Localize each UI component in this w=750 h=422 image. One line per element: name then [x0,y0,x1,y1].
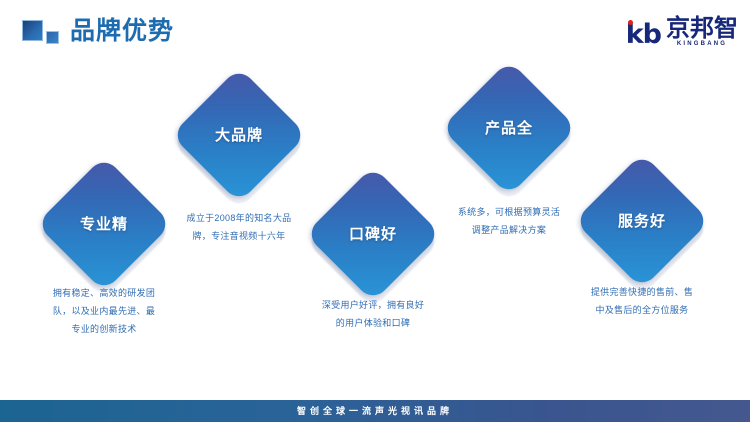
logo-english-text: KINGBANG [677,40,727,48]
logo-wordmark: 京邦智 KINGBANG [666,16,738,48]
feature-caption-5: 提供完善快捷的售前、售 中及售后的全方位服务 [552,283,732,319]
feature-caption-4: 系统多，可根据预算灵活 调整产品解决方案 [419,203,599,239]
brand-logo: kb 京邦智 KINGBANG [626,14,738,48]
feature-label-3: 口碑好 [325,226,421,244]
decor-square-small-icon [46,31,59,44]
feature-label-5: 服务好 [594,213,690,231]
logo-dot-icon [628,20,633,25]
feature-caption-3: 深受用户好评，拥有良好 的用户体验和口碑 [283,296,463,332]
feature-caption-2: 成立于2008年的知名大品 牌，专注音视频十六年 [149,209,329,245]
logo-mark-text: kb [626,21,661,48]
feature-caption-1: 拥有稳定、高效的研发团 队，以及业内最先进、最 专业的创新技术 [14,284,194,338]
slide-header: 品牌优势 kb 京邦智 KINGBANG [0,0,750,62]
page-title: 品牌优势 [70,16,174,46]
footer-slogan: 智创全球一流声光视讯品牌 [297,405,453,417]
feature-label-4: 产品全 [461,120,557,138]
logo-chinese-text: 京邦智 [666,16,738,41]
feature-label-2: 大品牌 [191,127,287,145]
slide-canvas: 品牌优势 kb 京邦智 KINGBANG 专业精 拥有稳定、高效的研发团 队，以… [0,0,750,422]
feature-label-1: 专业精 [56,216,152,234]
slide-footer: 智创全球一流声光视讯品牌 [0,400,750,422]
decor-square-large-icon [22,20,43,41]
